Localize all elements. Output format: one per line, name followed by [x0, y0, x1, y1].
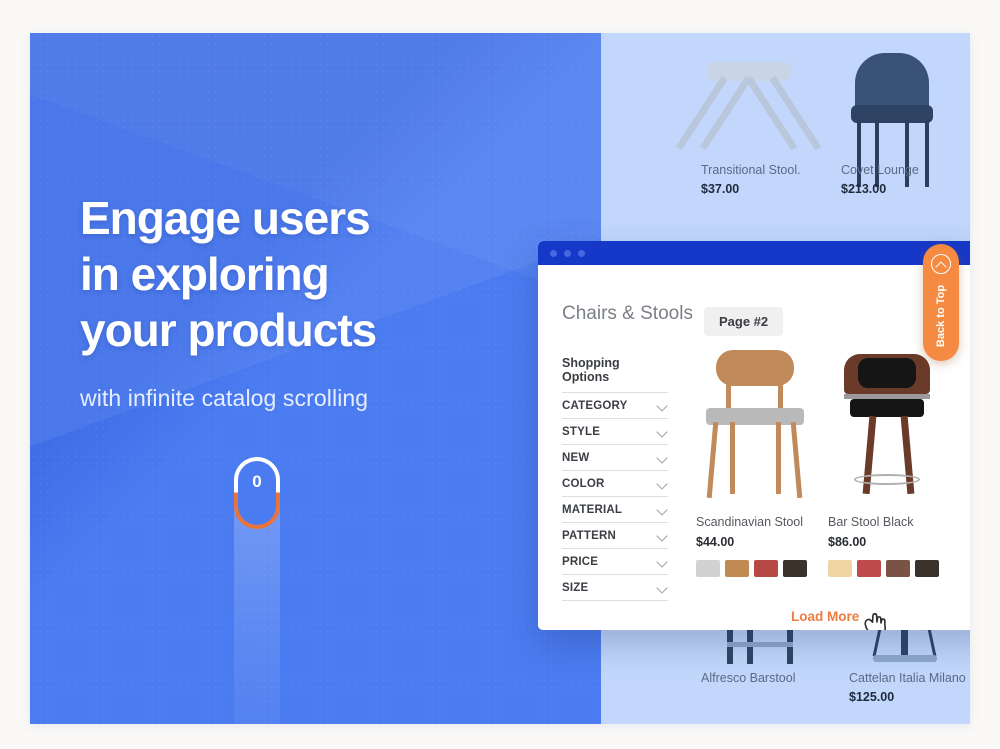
filter-row-category[interactable]: CATEGORY — [562, 392, 668, 418]
headline-line-1: Engage users — [80, 190, 510, 246]
shop-page-title: Chairs & Stools — [562, 303, 693, 325]
stool-leg — [746, 76, 798, 150]
back-to-top-label: Back to Top — [935, 285, 947, 347]
product-name: Cattelan Italia Milano — [849, 671, 970, 685]
filter-row-new[interactable]: NEW — [562, 444, 668, 470]
stool-cushion — [858, 358, 916, 388]
chevron-down-icon[interactable] — [658, 505, 668, 515]
product-image-bar-stool-black — [828, 350, 946, 502]
stool-footring — [854, 474, 920, 485]
scroll-beam-graphic — [234, 503, 280, 724]
product-card-transitional-stool[interactable]: Transitional Stool. $37.00 — [701, 163, 841, 196]
chevron-down-icon[interactable] — [658, 427, 668, 437]
stool-leg — [770, 76, 822, 150]
chair-leg — [791, 422, 803, 498]
chevron-down-icon[interactable] — [658, 453, 668, 463]
stool-leg — [700, 76, 752, 150]
filter-row-style[interactable]: STYLE — [562, 418, 668, 444]
product-name: Bar Stool Black — [828, 515, 948, 529]
product-card-bar-stool-black[interactable]: Bar Stool Black $86.00 — [828, 515, 948, 577]
mouse-wheel-glyph: 0 — [252, 473, 261, 490]
window-dot-icon[interactable] — [578, 250, 585, 257]
stool-leg — [676, 76, 728, 150]
filter-label: STYLE — [562, 426, 600, 438]
circled-chevron-up-icon — [931, 254, 951, 274]
filter-label: NEW — [562, 452, 589, 464]
product-card-covet-lounge[interactable]: Covet Lounge $213.00 — [841, 163, 970, 196]
chair-seat — [706, 408, 804, 425]
page-number-badge: Page #2 — [704, 307, 783, 336]
subheadline: with infinite catalog scrolling — [80, 385, 510, 412]
color-swatch[interactable] — [725, 560, 749, 577]
browser-titlebar[interactable] — [538, 241, 970, 265]
filter-row-price[interactable]: PRICE — [562, 548, 668, 574]
color-swatch[interactable] — [828, 560, 852, 577]
product-price: $125.00 — [849, 690, 970, 704]
promo-banner: Engage users in exploring your products … — [30, 33, 970, 724]
color-swatch[interactable] — [696, 560, 720, 577]
stool-seat — [850, 399, 924, 417]
filter-label: COLOR — [562, 478, 605, 490]
load-more-button[interactable]: Load More — [791, 609, 859, 624]
color-swatch-group — [696, 560, 816, 577]
product-price: $213.00 — [841, 182, 970, 196]
window-dot-icon[interactable] — [564, 250, 571, 257]
color-swatch[interactable] — [857, 560, 881, 577]
product-price: $86.00 — [828, 535, 948, 549]
color-swatch-group — [828, 560, 948, 577]
headline-line-2: in exploring — [80, 246, 510, 302]
filter-row-material[interactable]: MATERIAL — [562, 496, 668, 522]
chair-leg — [776, 422, 781, 494]
product-price: $44.00 — [696, 535, 816, 549]
screenshot-stage: Engage users in exploring your products … — [0, 0, 1000, 749]
filter-label: PATTERN — [562, 530, 616, 542]
color-swatch[interactable] — [915, 560, 939, 577]
pointing-hand-cursor — [856, 606, 898, 630]
product-image-transitional-stool — [701, 58, 797, 166]
chair-leg — [707, 422, 719, 498]
milano-base — [873, 655, 937, 662]
barstool-shelf — [727, 642, 793, 647]
chair-back — [716, 350, 794, 386]
shopping-options-sidebar: Shopping Options CATEGORY STYLE NEW — [562, 356, 668, 601]
product-card-scandinavian-stool[interactable]: Scandinavian Stool $44.00 — [696, 515, 816, 577]
product-name: Scandinavian Stool — [696, 515, 816, 529]
product-image-scandinavian-stool — [696, 350, 814, 502]
product-name: Alfresco Barstool — [701, 671, 851, 685]
mouse-inner-fill — [238, 461, 276, 525]
chevron-down-icon[interactable] — [658, 479, 668, 489]
scroll-mouse-icon: 0 — [234, 457, 280, 529]
chair-leg — [730, 422, 735, 494]
browser-window: Chairs & Stools Page #2 Shopping Options… — [538, 241, 970, 630]
chevron-down-icon[interactable] — [658, 583, 668, 593]
lounge-seat — [851, 105, 933, 123]
filter-label: PRICE — [562, 556, 598, 568]
browser-content: Chairs & Stools Page #2 Shopping Options… — [538, 265, 970, 630]
hero-panel: Engage users in exploring your products … — [30, 33, 601, 724]
filter-label: CATEGORY — [562, 400, 628, 412]
back-to-top-button[interactable]: Back to Top — [923, 244, 959, 361]
filter-label: SIZE — [562, 582, 588, 594]
window-dot-icon[interactable] — [550, 250, 557, 257]
headline-line-3: your products — [80, 302, 510, 358]
color-swatch[interactable] — [754, 560, 778, 577]
filter-row-pattern[interactable]: PATTERN — [562, 522, 668, 548]
shopping-options-heading: Shopping Options — [562, 356, 668, 392]
product-card-cattelan-italia-milano[interactable]: Cattelan Italia Milano $125.00 — [849, 671, 970, 704]
filter-row-size[interactable]: SIZE — [562, 574, 668, 601]
product-price: $37.00 — [701, 182, 841, 196]
chevron-down-icon[interactable] — [658, 531, 668, 541]
color-swatch[interactable] — [783, 560, 807, 577]
filter-label: MATERIAL — [562, 504, 622, 516]
product-name: Transitional Stool. — [701, 163, 841, 177]
product-card-alfresco-barstool[interactable]: Alfresco Barstool — [701, 671, 851, 690]
page-title: Engage users in exploring your products — [80, 190, 510, 358]
product-image-covet-lounge — [841, 53, 943, 168]
color-swatch[interactable] — [886, 560, 910, 577]
filter-row-color[interactable]: COLOR — [562, 470, 668, 496]
chevron-down-icon[interactable] — [658, 557, 668, 567]
chevron-down-icon[interactable] — [658, 401, 668, 411]
hero-dot-texture — [30, 33, 601, 724]
product-name: Covet Lounge — [841, 163, 970, 177]
